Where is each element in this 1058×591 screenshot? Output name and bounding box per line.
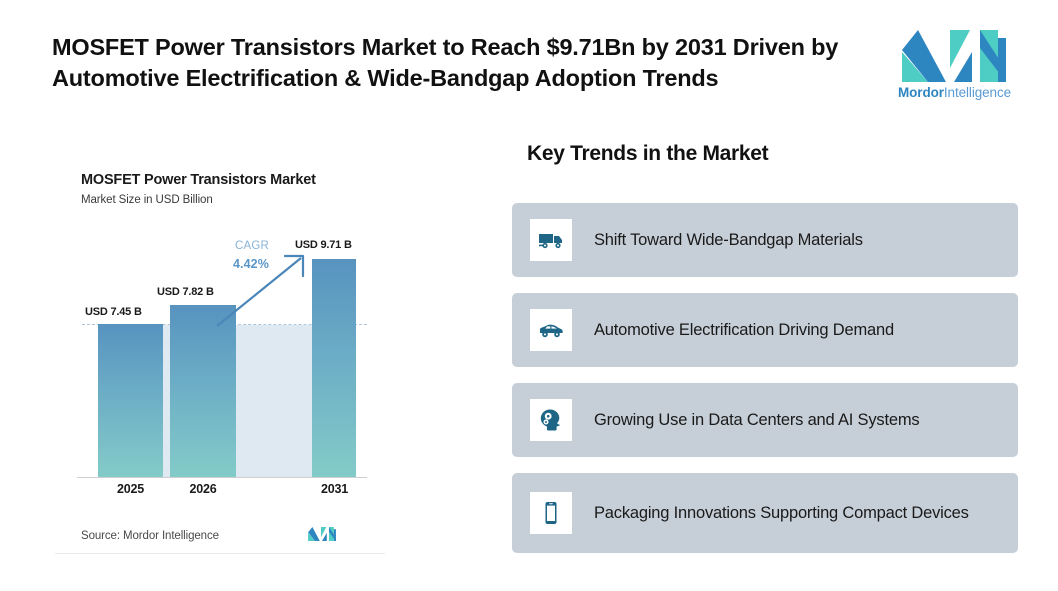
- chart-subtitle: Market Size in USD Billion: [81, 194, 213, 206]
- brand-wordmark: MordorIntelligence: [898, 85, 1010, 100]
- chart-title: MOSFET Power Transistors Market: [81, 172, 316, 188]
- x-tick-2031: 2031: [307, 482, 362, 496]
- page-title: MOSFET Power Transistors Market to Reach…: [52, 32, 862, 94]
- trend-label: Automotive Electrification Driving Deman…: [594, 318, 894, 342]
- trend-card-wide-bandgap[interactable]: Shift Toward Wide-Bandgap Materials: [512, 203, 1018, 277]
- key-trends-list: Shift Toward Wide-Bandgap Materials Auto…: [512, 203, 1018, 569]
- mordor-logo-mark: [898, 30, 1010, 82]
- x-tick-2025: 2025: [98, 482, 163, 496]
- trend-card-automotive-electrification[interactable]: Automotive Electrification Driving Deman…: [512, 293, 1018, 367]
- chart-source-text: Source: Mordor Intelligence: [81, 530, 219, 542]
- chart-card: MOSFET Power Transistors Market Market S…: [55, 152, 385, 554]
- x-tick-2026: 2026: [170, 482, 236, 496]
- car-icon: [530, 309, 572, 351]
- cagr-label: CAGR: [235, 240, 269, 252]
- trend-label: Growing Use in Data Centers and AI Syste…: [594, 408, 919, 432]
- bar-value-label-2026: USD 7.82 B: [157, 286, 214, 298]
- bar-2025: [98, 324, 163, 477]
- trend-label: Packaging Innovations Supporting Compact…: [594, 501, 969, 525]
- key-trends-heading: Key Trends in the Market: [527, 142, 768, 166]
- cagr-value: 4.42%: [233, 257, 269, 271]
- bar-chart-plot: USD 7.45 B USD 7.82 B USD 9.71 B CAGR 4.…: [55, 232, 385, 502]
- trend-card-data-centers-ai[interactable]: Growing Use in Data Centers and AI Syste…: [512, 383, 1018, 457]
- brand-word-secondary: Intelligence: [944, 85, 1011, 100]
- page-header: MOSFET Power Transistors Market to Reach…: [0, 0, 1058, 120]
- chart-source-logo-icon: [307, 525, 337, 543]
- brand-word-primary: Mordor: [898, 85, 944, 100]
- smartphone-icon: [530, 492, 572, 534]
- trend-card-packaging-innovations[interactable]: Packaging Innovations Supporting Compact…: [512, 473, 1018, 553]
- mordor-intelligence-logo: MordorIntelligence: [898, 30, 1010, 108]
- x-axis-line: [77, 477, 367, 478]
- bar-value-label-2025: USD 7.45 B: [85, 306, 142, 318]
- truck-icon: [530, 219, 572, 261]
- trend-label: Shift Toward Wide-Bandgap Materials: [594, 228, 863, 252]
- head-gears-icon: [530, 399, 572, 441]
